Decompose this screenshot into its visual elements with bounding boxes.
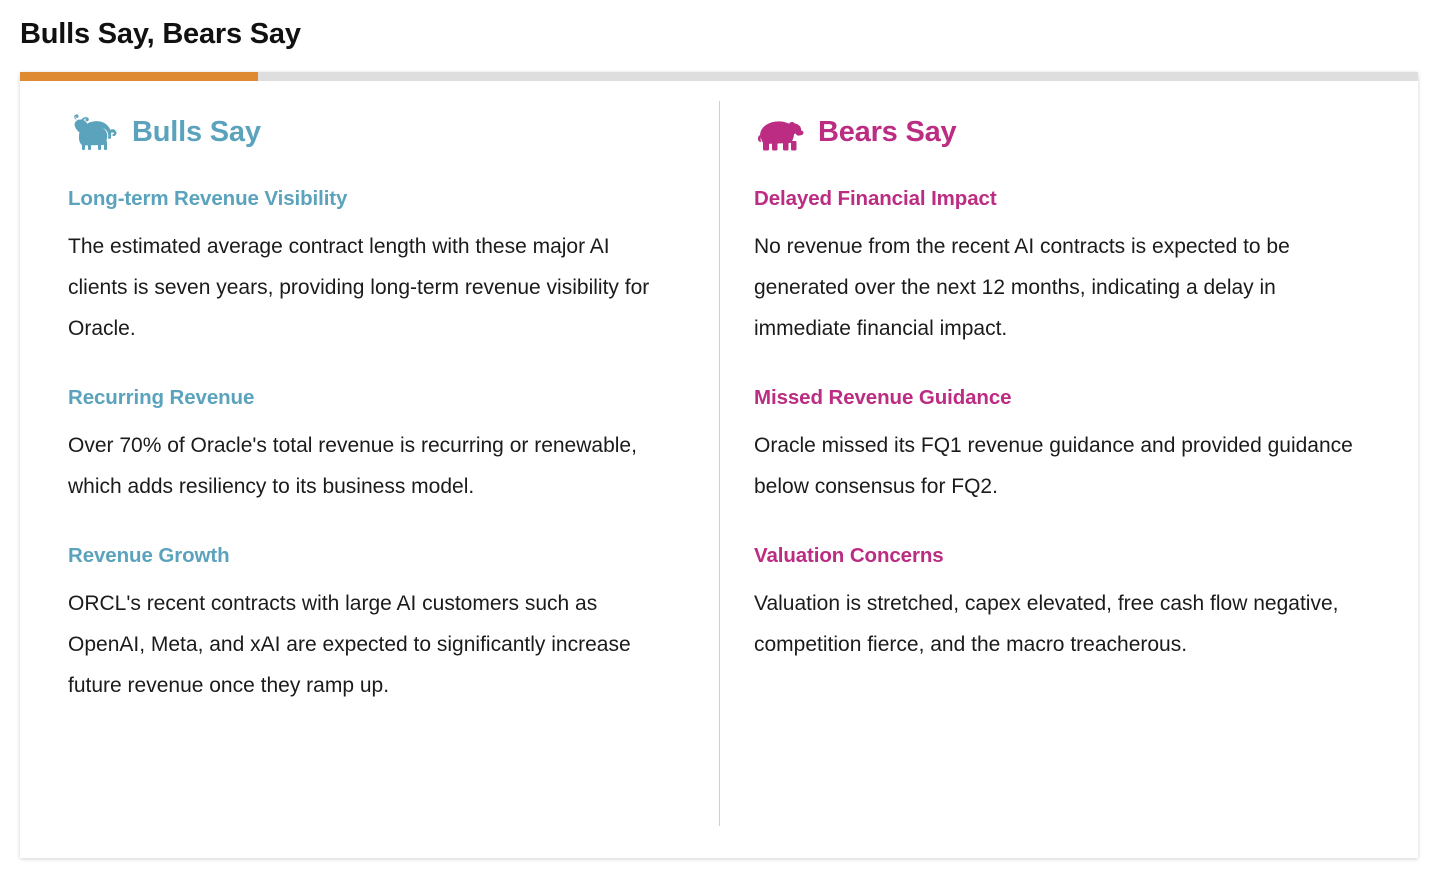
bulls-section-title: Revenue Growth: [68, 543, 673, 569]
bulls-section-body: ORCL's recent contracts with large AI cu…: [68, 583, 673, 706]
bulls-section: Revenue Growth ORCL's recent contracts w…: [68, 543, 673, 706]
bears-section-body: No revenue from the recent AI contracts …: [754, 226, 1369, 349]
accent-progress-fill: [20, 72, 258, 81]
bears-section-title: Valuation Concerns: [754, 543, 1378, 569]
bears-section-title: Missed Revenue Guidance: [754, 385, 1378, 411]
bears-heading-label: Bears Say: [818, 115, 956, 149]
bears-column: Bears Say Delayed Financial Impact No re…: [719, 101, 1418, 826]
bulls-bears-card: Bulls Say Long-term Revenue Visibility T…: [20, 72, 1418, 858]
bulls-section-title: Long-term Revenue Visibility: [68, 186, 673, 212]
bear-icon: [754, 112, 804, 152]
bulls-section: Recurring Revenue Over 70% of Oracle's t…: [68, 385, 673, 507]
bears-heading-row: Bears Say: [754, 112, 1378, 152]
page-title: Bulls Say, Bears Say: [20, 16, 301, 52]
bulls-heading-label: Bulls Say: [132, 115, 261, 149]
bears-section: Missed Revenue Guidance Oracle missed it…: [754, 385, 1378, 507]
bulls-section-body: The estimated average contract length wi…: [68, 226, 673, 349]
bulls-heading-row: Bulls Say: [68, 112, 673, 152]
bulls-section-body: Over 70% of Oracle's total revenue is re…: [68, 425, 673, 507]
columns-container: Bulls Say Long-term Revenue Visibility T…: [20, 81, 1418, 858]
bull-icon: [68, 112, 118, 152]
bears-section-title: Delayed Financial Impact: [754, 186, 1378, 212]
bears-section-body: Oracle missed its FQ1 revenue guidance a…: [754, 425, 1369, 507]
bears-section-body: Valuation is stretched, capex elevated, …: [754, 583, 1369, 665]
accent-progress-bar: [20, 72, 1418, 81]
bears-section: Valuation Concerns Valuation is stretche…: [754, 543, 1378, 665]
bulls-column: Bulls Say Long-term Revenue Visibility T…: [20, 81, 719, 858]
bulls-section-title: Recurring Revenue: [68, 385, 673, 411]
bears-section: Delayed Financial Impact No revenue from…: [754, 186, 1378, 349]
bulls-bears-panel: Bulls Say, Bears Say: [0, 0, 1436, 882]
bulls-section: Long-term Revenue Visibility The estimat…: [68, 186, 673, 349]
